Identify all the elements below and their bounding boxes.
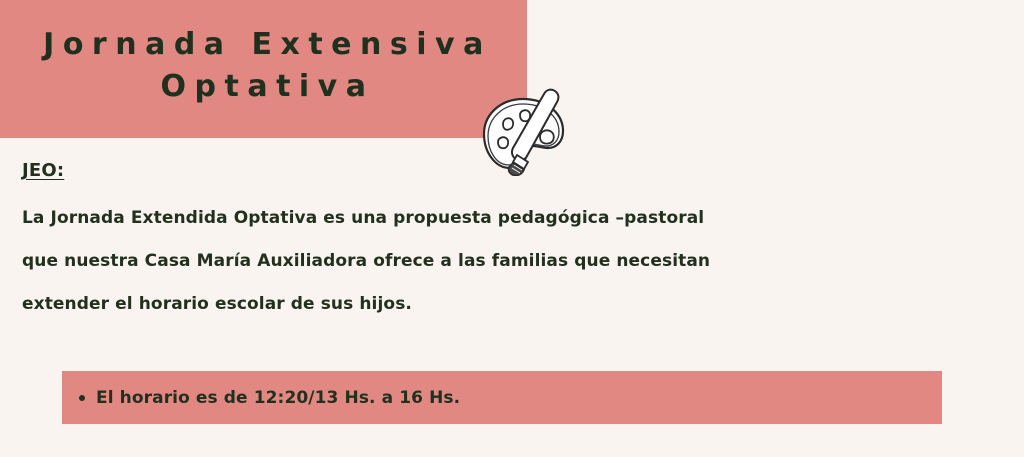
paragraph-line-3: extender el horario escolar de sus hijos… <box>22 283 952 326</box>
paragraph-line-1: La Jornada Extendida Optativa es una pro… <box>22 197 952 240</box>
jeo-label-row: JEO: <box>22 160 952 197</box>
header-banner: Jornada Extensiva Optativa <box>0 0 527 138</box>
list-item: El horario es de 12:20/13 Hs. a 16 Hs. <box>62 388 460 408</box>
jeo-label: JEO: <box>22 160 64 181</box>
schedule-highlight-bar: El horario es de 12:20/13 Hs. a 16 Hs. <box>62 371 942 424</box>
body-text-block: JEO: La Jornada Extendida Optativa es un… <box>22 160 952 326</box>
paragraph-line-2: que nuestra Casa María Auxiliadora ofrec… <box>22 240 952 283</box>
slide-page: Jornada Extensiva Optativa <box>0 0 1024 457</box>
page-title-line-1: Jornada Extensiva <box>35 24 492 66</box>
bullet-point-icon <box>79 395 85 401</box>
schedule-text: El horario es de 12:20/13 Hs. a 16 Hs. <box>96 388 460 408</box>
page-title-line-2: Optativa <box>153 66 375 108</box>
